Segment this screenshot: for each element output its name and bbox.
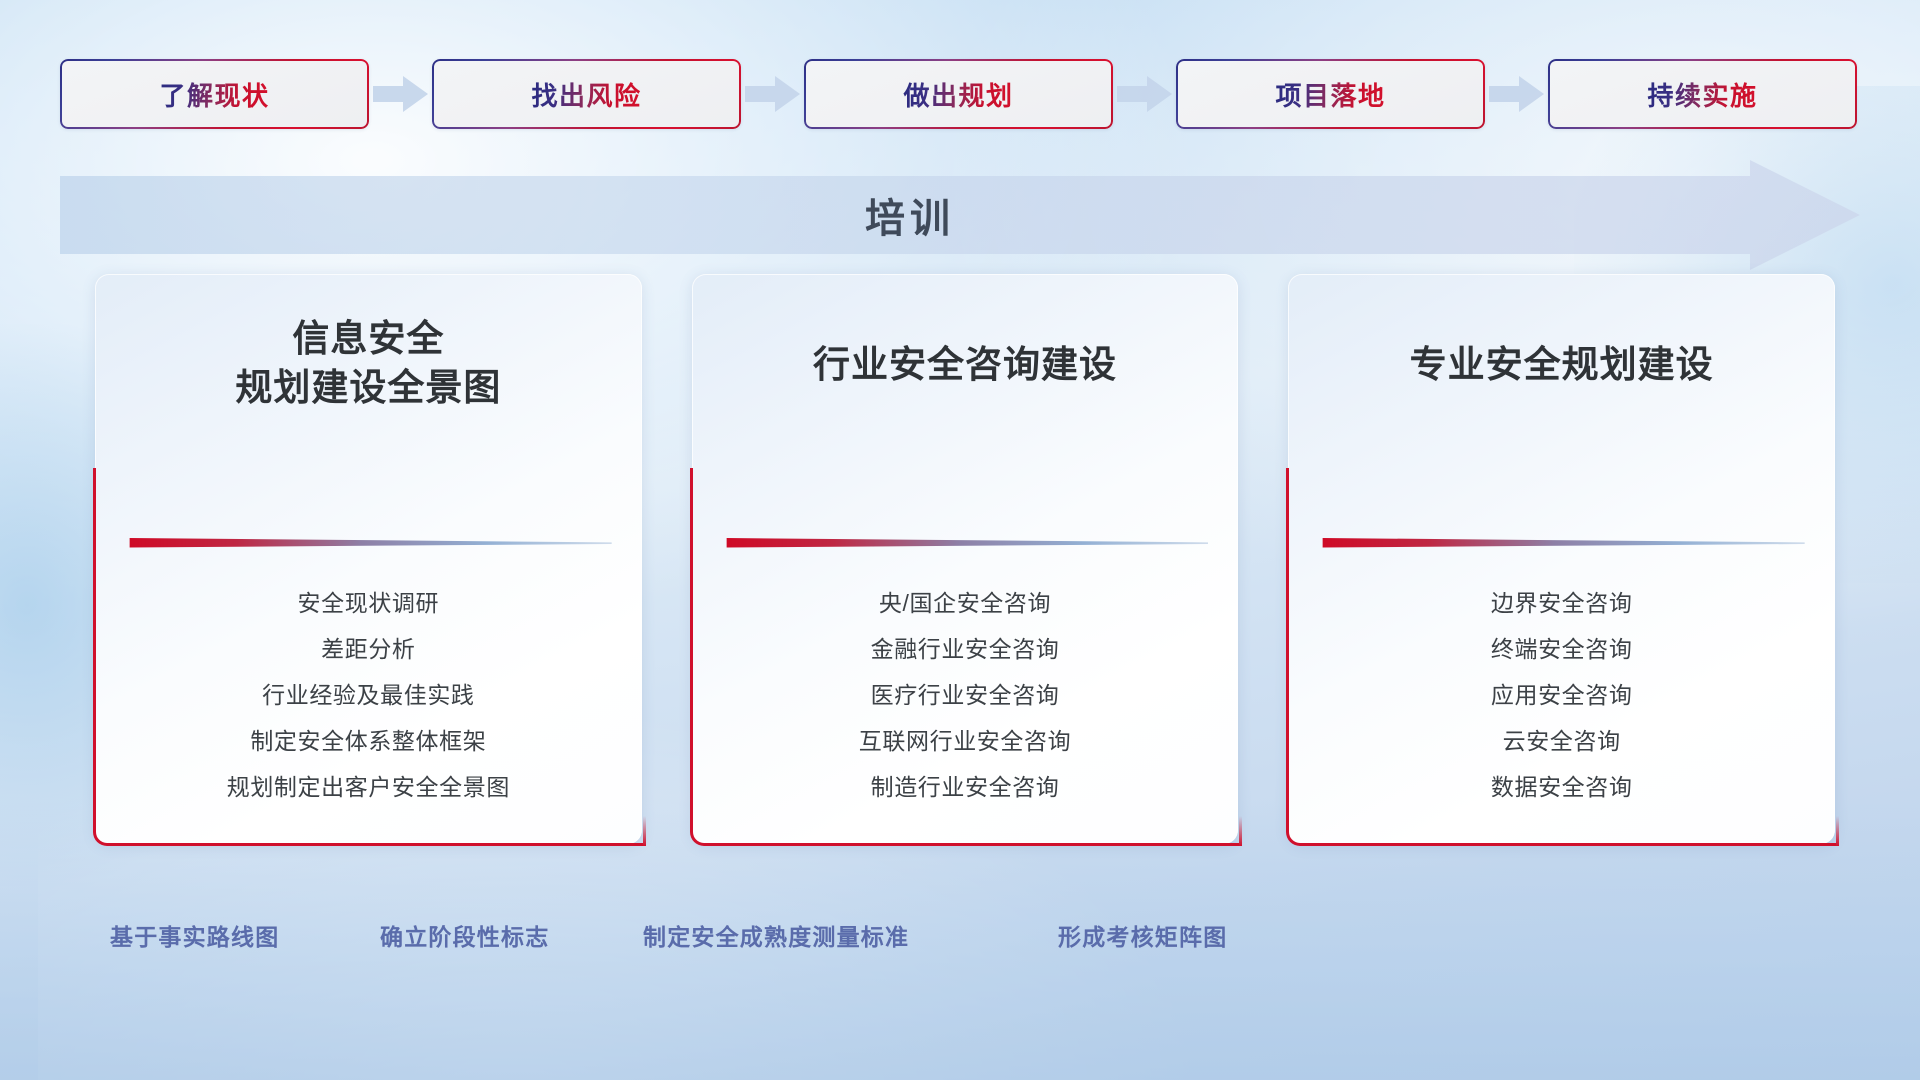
process-arrow-1 — [369, 76, 432, 112]
service-card-row: 信息安全 规划建设全景图 安全现状调研 — [95, 274, 1835, 844]
process-step-1[interactable]: 了解现状 — [60, 59, 369, 129]
card-2-item-list: 央/国企安全咨询 金融行业安全咨询 医疗行业安全咨询 互联网行业安全咨询 制造行… — [722, 550, 1209, 818]
process-step-5[interactable]: 持续实施 — [1548, 59, 1857, 129]
process-arrow-2 — [741, 76, 804, 112]
process-arrow-4 — [1485, 76, 1548, 112]
card-2-divider — [722, 536, 1209, 550]
process-step-4[interactable]: 项目落地 — [1176, 59, 1485, 129]
card-1-item-list: 安全现状调研 差距分析 行业经验及最佳实践 制定安全体系整体框架 规划制定出客户… — [125, 550, 612, 818]
list-item: 数据安全咨询 — [1491, 768, 1633, 802]
service-card-2[interactable]: 行业安全咨询建设 央/国企安全咨询 — [692, 274, 1239, 844]
card-2-title: 行业安全咨询建设 — [813, 340, 1117, 389]
list-item: 规划制定出客户安全全景图 — [227, 768, 510, 802]
service-card-3[interactable]: 专业安全规划建设 边界安全咨询 — [1288, 274, 1835, 844]
footnote-1: 基于事实路线图 — [110, 918, 279, 952]
process-step-2-label: 找出风险 — [531, 76, 641, 113]
list-item: 终端安全咨询 — [1491, 630, 1633, 664]
card-1-divider — [125, 536, 612, 550]
footnote-row: 基于事实路线图 确立阶段性标志 制定安全成熟度测量标准 形成考核矩阵图 — [0, 918, 1920, 958]
banner-label: 培训 — [60, 160, 1760, 270]
footnote-3: 制定安全成熟度测量标准 — [643, 918, 909, 952]
list-item: 云安全咨询 — [1503, 722, 1621, 756]
list-item: 安全现状调研 — [298, 584, 440, 618]
list-item: 行业经验及最佳实践 — [262, 676, 474, 710]
training-banner: 培训 — [60, 160, 1860, 270]
list-item: 制定安全体系整体框架 — [250, 722, 486, 756]
list-item: 医疗行业安全咨询 — [871, 676, 1060, 710]
process-step-row: 了解现状 找出风险 做出规划 项目落地 持续实施 — [60, 59, 1860, 129]
card-3-divider — [1318, 536, 1805, 550]
process-arrow-3 — [1113, 76, 1176, 112]
footnote-4: 形成考核矩阵图 — [1058, 918, 1227, 952]
list-item: 差距分析 — [321, 630, 415, 664]
process-step-4-label: 项目落地 — [1275, 76, 1385, 113]
process-step-5-label: 持续实施 — [1647, 76, 1757, 113]
list-item: 金融行业安全咨询 — [871, 630, 1060, 664]
process-step-1-label: 了解现状 — [159, 76, 269, 113]
list-item: 制造行业安全咨询 — [871, 768, 1060, 802]
list-item: 互联网行业安全咨询 — [859, 722, 1071, 756]
card-3-item-list: 边界安全咨询 终端安全咨询 应用安全咨询 云安全咨询 数据安全咨询 — [1318, 550, 1805, 818]
process-step-3[interactable]: 做出规划 — [804, 59, 1113, 129]
process-step-3-label: 做出规划 — [903, 76, 1013, 113]
card-1-title: 信息安全 规划建设全景图 — [235, 314, 501, 412]
footnote-2: 确立阶段性标志 — [380, 918, 549, 952]
list-item: 边界安全咨询 — [1491, 584, 1633, 618]
list-item: 应用安全咨询 — [1491, 676, 1633, 710]
card-3-title: 专业安全规划建设 — [1410, 340, 1714, 389]
service-card-1[interactable]: 信息安全 规划建设全景图 安全现状调研 — [95, 274, 642, 844]
list-item: 央/国企安全咨询 — [879, 584, 1051, 618]
process-step-2[interactable]: 找出风险 — [432, 59, 741, 129]
